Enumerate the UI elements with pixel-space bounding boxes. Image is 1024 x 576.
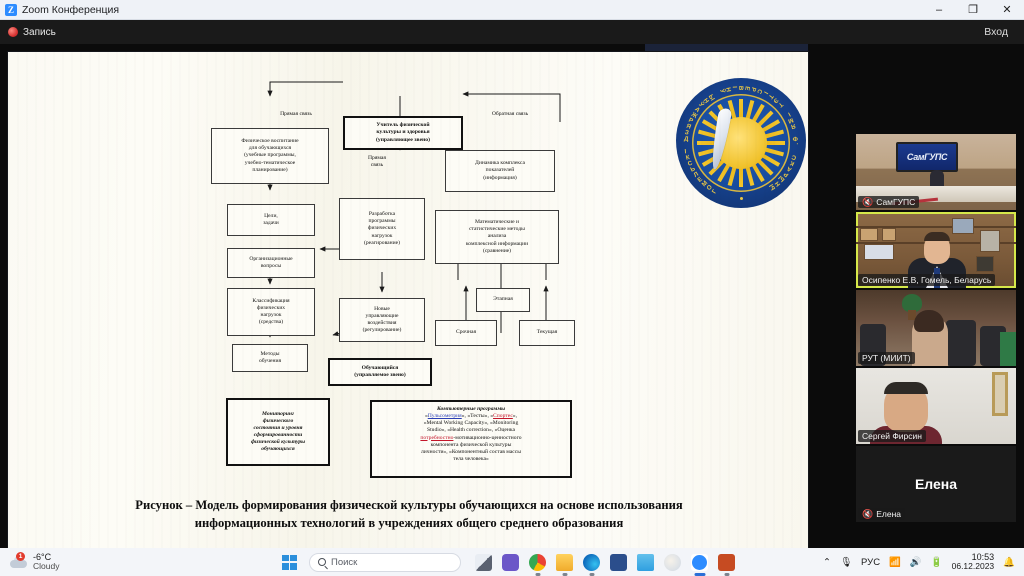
widgets-icon[interactable] — [475, 554, 492, 571]
maximize-button[interactable]: ❐ — [956, 0, 990, 20]
node-methods: Методы обучения — [232, 344, 308, 372]
mic-muted-icon: 🔇 — [862, 510, 873, 519]
participant-tile-elena[interactable]: Елена 🔇 Елена — [856, 446, 1016, 522]
programs-l4-red: потребностно — [420, 435, 453, 441]
node-goals: Цели, задачи — [227, 204, 315, 236]
programs-l2: «Mental Working Capacity», «Monitoring — [377, 420, 565, 427]
node-computer-programs: Компьютерные программы «Пульсометрия», «… — [370, 400, 572, 478]
clock-date: 06.12.2023 — [952, 562, 995, 572]
search-placeholder: Поиск — [331, 557, 357, 568]
participant-filmstrip: СамГУПС 🔇 СамГУПС — [856, 88, 1024, 576]
programs-l5: компонента физической культуры — [377, 442, 565, 449]
label-forward-link: Прямая связь — [257, 111, 335, 118]
participant-name-badge: РУТ (МИИТ) — [858, 352, 915, 364]
wifi-icon[interactable]: 📶 — [889, 557, 901, 568]
samgups-logo: СамГУПС — [907, 152, 947, 162]
shared-screen-slide[interactable]: ГОМЕЛЬСКІ ДЗЯРЖАЎНЫ ЎНІВЕРСІТЭТ ІМЯ Ф. С… — [8, 52, 808, 552]
window-title-bar: Z Zoom Конференция – ❐ ✕ — [0, 0, 1024, 20]
chrome-icon[interactable] — [529, 554, 546, 571]
powerpoint-icon[interactable] — [718, 554, 735, 571]
meeting-stage: ГОМЕЛЬСКІ ДЗЯРЖАЎНЫ ЎНІВЕРСІТЭТ ІМЯ Ф. С… — [0, 44, 1024, 548]
chevron-up-icon[interactable]: ⌃ — [823, 557, 831, 568]
node-teacher: Учитель физической культуры и здоровья (… — [343, 116, 463, 150]
programs-l1c: », — [513, 413, 517, 419]
participant-tile-samgups[interactable]: СамГУПС 🔇 СамГУПС — [856, 134, 1016, 210]
window-title: Zoom Конференция — [22, 4, 119, 16]
bell-icon[interactable]: 🔔 — [1003, 557, 1015, 568]
programs-l6: личности», «Компонентный состав массы — [377, 449, 565, 456]
programs-l1-red2: Спортес — [493, 413, 513, 419]
node-current: Текущая — [519, 320, 575, 346]
microsoft-store-icon[interactable] — [610, 554, 627, 571]
clock[interactable]: 10:53 06.12.2023 — [952, 552, 995, 572]
teams-chat-icon[interactable] — [502, 554, 519, 571]
participant-tile-firsin[interactable]: Сергей Фирсин — [856, 368, 1016, 444]
windows-start-icon[interactable] — [282, 555, 297, 570]
signin-button[interactable]: Вход — [978, 24, 1014, 40]
speaker-icon[interactable]: 🔊 — [910, 557, 922, 568]
programs-l1-red1: Пульсометрия — [428, 413, 462, 419]
programs-l1b: », «Тесты», « — [462, 413, 493, 419]
wall-picture — [992, 372, 1008, 416]
participant-name-badge: 🔇 Елена — [858, 508, 905, 520]
programs-l3: Studio», «Health correction», «Оценка — [377, 427, 565, 434]
node-new-actions: Новые управляющие воздействия (регулиров… — [339, 298, 425, 342]
battery-icon[interactable]: 🔋 — [931, 557, 943, 568]
windows-taskbar: 1 -6°C Cloudy Поиск — [0, 548, 1024, 576]
participant-name-badge: Сергей Фирсин — [858, 430, 926, 442]
node-program-dev: Разработка программы физических нагрузок… — [339, 198, 425, 260]
programs-l4-rest: -мотивационно-ценностного — [453, 435, 521, 441]
weather-widget[interactable]: 1 -6°C Cloudy — [10, 552, 59, 572]
participant-name: Сергей Фирсин — [862, 431, 922, 441]
search-input[interactable]: Поиск — [309, 553, 461, 572]
system-tray: ⌃ 🎙 РУС 📶 🔊 🔋 10:53 06.12.2023 🔔 — [823, 548, 1024, 576]
node-urgent: Срочная — [435, 320, 497, 346]
zoom-app-icon[interactable] — [691, 554, 708, 571]
participant-tile-osipenko[interactable]: Осипенко Е.В, Гомель, Беларусь — [856, 212, 1016, 288]
mail-icon[interactable] — [637, 554, 654, 571]
node-phys-education: Физическое воспитание для обучающихся (у… — [211, 128, 329, 184]
weather-condition: Cloudy — [33, 562, 59, 572]
recording-label: Запись — [23, 27, 56, 38]
caption-line-1: Рисунок – Модель формирования физической… — [38, 496, 780, 514]
microphone-icon[interactable]: 🎙 — [840, 557, 852, 568]
participant-name-badge: 🔇 СамГУПС — [858, 196, 919, 208]
label-forward-link-2: Прямая связь — [354, 155, 400, 169]
recording-indicator[interactable]: Запись — [8, 27, 56, 38]
node-math-methods: Математические и статистические методы а… — [435, 210, 559, 264]
participant-name: СамГУПС — [876, 197, 915, 207]
window-controls: – ❐ ✕ — [922, 0, 1024, 20]
record-dot-icon — [8, 27, 18, 37]
weather-badge: 1 — [16, 552, 25, 561]
participant-name-badge: Осипенко Е.В, Гомель, Беларусь — [858, 274, 995, 286]
search-icon — [318, 558, 326, 566]
taskbar-center: Поиск — [282, 548, 735, 576]
close-button[interactable]: ✕ — [990, 0, 1024, 20]
language-indicator[interactable]: РУС — [861, 557, 880, 568]
label-feedback-link: Обратная связь — [468, 111, 552, 118]
taskbar-apps — [475, 554, 735, 571]
node-dynamics: Динамика комплекса показателей (информац… — [445, 150, 555, 192]
diagram: Прямая связь Обратная связь Прямая связь… — [8, 52, 808, 492]
node-stage: Этапная — [476, 288, 530, 312]
participant-name: РУТ (МИИТ) — [862, 353, 911, 363]
slide-caption: Рисунок – Модель формирования физической… — [38, 496, 780, 533]
file-explorer-icon[interactable] — [556, 554, 573, 571]
node-monitoring: Мониторинг физического состояния и уровн… — [226, 398, 330, 466]
cloud-icon: 1 — [10, 555, 28, 569]
participant-tile-rut-miit[interactable]: РУТ (МИИТ) — [856, 290, 1016, 366]
programs-l7: тела человека» — [377, 456, 565, 463]
presentation-screen: СамГУПС — [896, 142, 958, 172]
participant-name: Елена — [876, 509, 901, 519]
screen: Z Zoom Конференция – ❐ ✕ Запись Вход ГОМ… — [0, 0, 1024, 576]
minimize-button[interactable]: – — [922, 0, 956, 20]
participant-name: Осипенко Е.В, Гомель, Беларусь — [862, 275, 991, 285]
node-student: Обучающийся (управляемое звено) — [328, 358, 432, 386]
mic-muted-icon: 🔇 — [862, 198, 873, 207]
programs-title: Компьютерные программы — [377, 406, 565, 413]
zoom-app-header: Запись Вход — [0, 20, 1024, 44]
node-classification: Классификация физических нагрузок (средс… — [227, 288, 315, 336]
zoom-icon: Z — [5, 4, 17, 16]
caption-line-2: информационных технологий в учреждениях … — [38, 514, 780, 532]
node-org-questions: Организационные вопросы — [227, 248, 315, 278]
microsoft-edge-icon[interactable] — [583, 554, 600, 571]
paint-icon[interactable] — [664, 554, 681, 571]
